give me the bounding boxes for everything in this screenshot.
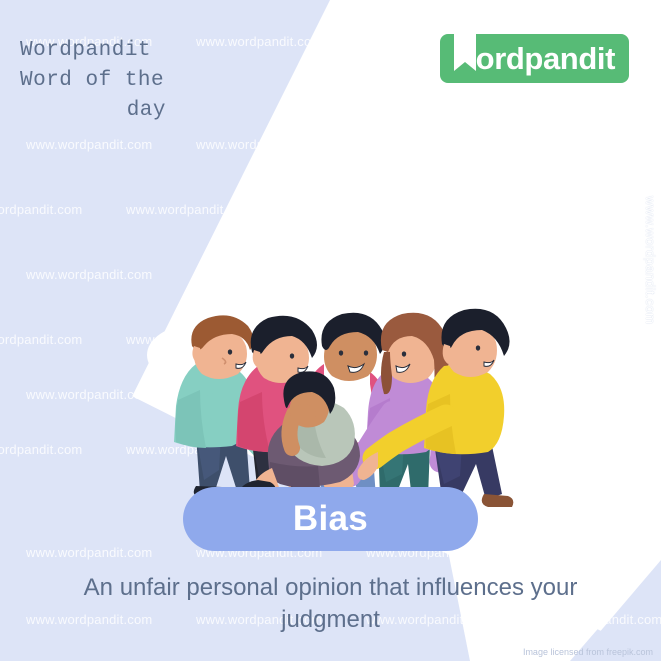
image-attribution: Image licensed from freepik.com: [523, 647, 653, 657]
bookmark-icon: [454, 29, 476, 73]
logo-text: ordpandit: [476, 43, 615, 74]
bullying-illustration: [0, 150, 661, 510]
word-badge[interactable]: Bias: [183, 487, 478, 551]
title-line-day: day: [18, 96, 228, 126]
title-line-word-of-the: Word of the: [18, 66, 228, 96]
page-title: Wordpandit Word of the day: [18, 36, 228, 126]
word-of-the-day-card: www.wordpandit.com www.wordpandit.com ww…: [0, 0, 661, 661]
title-line-brand: Wordpandit: [18, 36, 228, 66]
word-text: Bias: [293, 499, 368, 539]
wordpandit-logo[interactable]: ordpandit: [440, 34, 629, 83]
word-definition: An unfair personal opinion that influenc…: [38, 572, 623, 636]
